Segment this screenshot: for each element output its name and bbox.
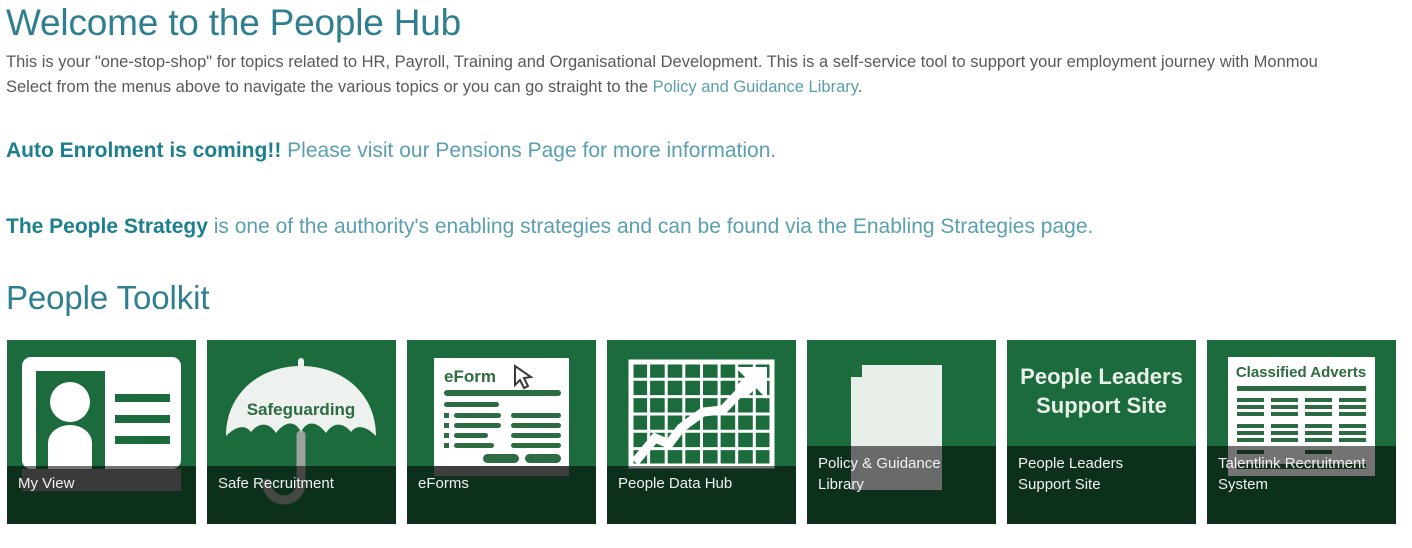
- people-strategy-notice: The People Strategy is one of the author…: [6, 212, 1093, 242]
- auto-enrolment-notice: Auto Enrolment is coming!! Please visit …: [6, 136, 776, 166]
- svg-text:Safeguarding: Safeguarding: [247, 400, 356, 419]
- tile-my-view[interactable]: My View: [7, 340, 196, 524]
- grid-trend-arrow-icon: [607, 340, 796, 524]
- intro-line-1: This is your "one-stop-shop" for topics …: [6, 50, 1412, 75]
- intro-paragraph: This is your "one-stop-shop" for topics …: [6, 50, 1412, 100]
- people-strategy-headline: The People Strategy: [6, 215, 208, 238]
- people-toolkit-heading: People Toolkit: [6, 277, 209, 319]
- page-title: Welcome to the People Hub: [6, 0, 461, 46]
- people-hub-page: Welcome to the People Hub This is your "…: [0, 0, 1412, 548]
- auto-enrolment-body: Please visit our Pensions Page for more …: [281, 139, 776, 162]
- id-card-icon: [7, 340, 196, 524]
- intro-line-2-text: Select from the menus above to navigate …: [6, 78, 653, 96]
- intro-line-2: Select from the menus above to navigate …: [6, 75, 1412, 100]
- tile-people-leaders-support-site[interactable]: People Leaders Support Site People Leade…: [1007, 340, 1196, 524]
- classified-adverts-icon: Classified Adverts: [1207, 340, 1396, 524]
- tile-eforms[interactable]: eForm: [407, 340, 596, 524]
- people-toolkit-tiles: My View Safeguarding Safe Recruitment: [7, 340, 1396, 524]
- tile-safe-recruitment[interactable]: Safeguarding Safe Recruitment: [207, 340, 396, 524]
- eform-document-icon: eForm: [407, 340, 596, 524]
- policy-guidance-library-link[interactable]: Policy and Guidance Library: [653, 78, 858, 96]
- tile-policy-guidance-library[interactable]: Policy & Guidance Library: [807, 340, 996, 524]
- intro-line-2-period: .: [858, 78, 863, 96]
- tile-talentlink-recruitment-system[interactable]: Classified Adverts: [1207, 340, 1396, 524]
- svg-text:eForm: eForm: [444, 367, 496, 386]
- auto-enrolment-headline: Auto Enrolment is coming!!: [6, 139, 281, 162]
- tile-center-heading: People Leaders Support Site: [1007, 362, 1196, 420]
- svg-text:Classified Adverts: Classified Adverts: [1236, 364, 1366, 381]
- people-strategy-body: is one of the authority's enabling strat…: [208, 215, 1093, 238]
- umbrella-safeguarding-icon: Safeguarding: [207, 340, 396, 524]
- tile-people-data-hub[interactable]: People Data Hub: [607, 340, 796, 524]
- document-page-icon: [807, 340, 996, 524]
